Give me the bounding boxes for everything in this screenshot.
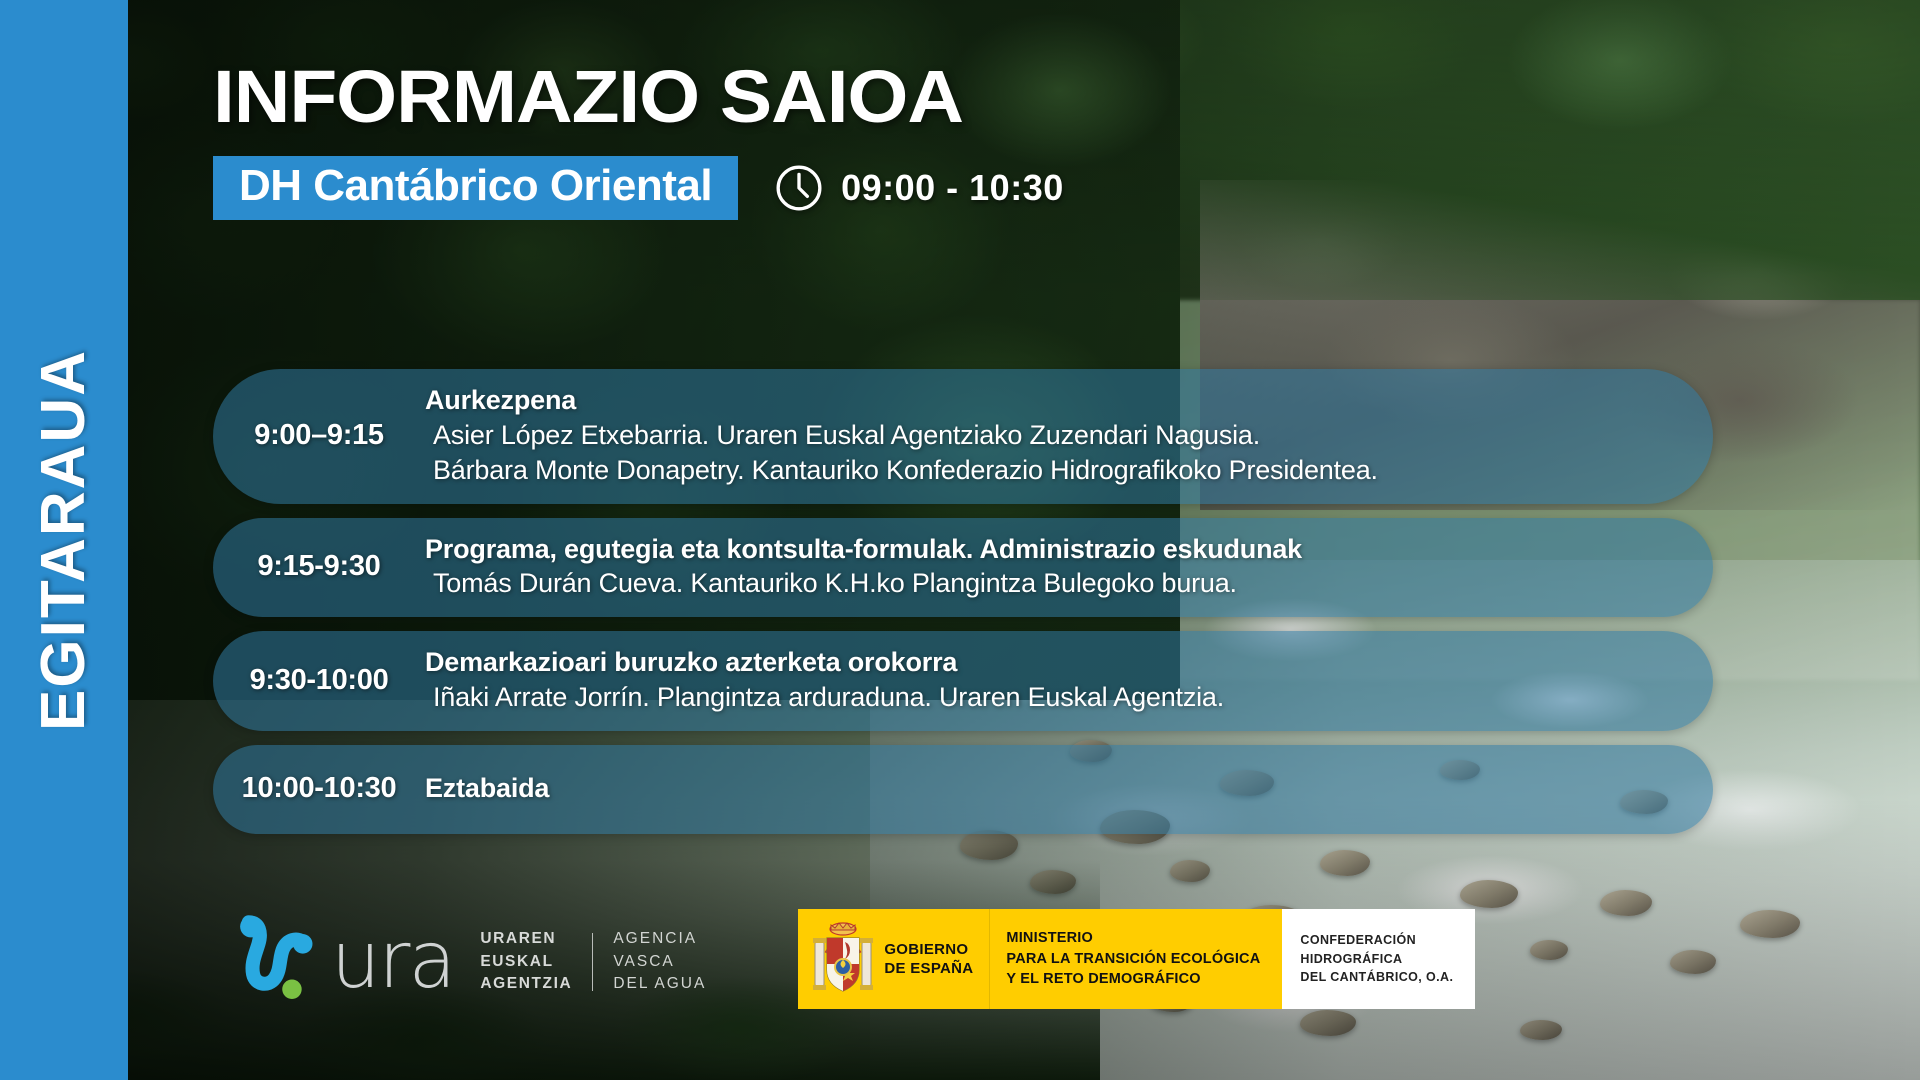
- time-range-label: 09:00 - 10:30: [841, 167, 1064, 209]
- confederacion-hidrografica-logo: CONFEDERACIÓN HIDROGRÁFICA DEL CANTÁBRIC…: [1282, 909, 1475, 1009]
- sidebar-label: EGITARAUA: [33, 349, 95, 731]
- ura-tagline-es-line3: DEL AGUA: [613, 973, 706, 995]
- sidebar-egitaraua: EGITARAUA: [0, 0, 128, 1080]
- footer-logos: ura URAREN EUSKAL AGENTZIA AGENCIA VASCA…: [225, 905, 1475, 1013]
- agenda-row: 9:15-9:30Programa, egutegia eta kontsult…: [213, 518, 1713, 618]
- spain-coat-of-arms-icon: [812, 920, 874, 998]
- ura-tagline-es-line1: AGENCIA: [613, 928, 706, 950]
- chc-line2: HIDROGRÁFICA: [1300, 952, 1402, 966]
- chc-line1: CONFEDERACIÓN: [1300, 933, 1416, 947]
- agenda-row-body: AurkezpenaAsier López Etxebarria. Uraren…: [425, 383, 1673, 488]
- ura-tagline-eu: URAREN EUSKAL AGENTZIA: [480, 928, 572, 995]
- ministerio-line3: Y EL RETO DEMOGRÁFICO: [1006, 971, 1200, 987]
- ministerio-logo: MINISTERIO PARA LA TRANSICIÓN ECOLÓGICA …: [990, 909, 1282, 1009]
- ministerio-line1: MINISTERIO: [1006, 930, 1093, 946]
- header-subrow: DH Cantábrico Oriental 09:00 - 10:30: [213, 156, 1064, 220]
- region-badge: DH Cantábrico Oriental: [213, 156, 738, 220]
- chc-line3: DEL CANTÁBRICO, O.A.: [1300, 970, 1453, 984]
- session-time: 09:00 - 10:30: [774, 163, 1064, 213]
- ura-tagline-es-line2: VASCA: [613, 951, 706, 973]
- agenda-row-time: 9:30-10:00: [213, 664, 425, 697]
- agenda-row-time: 10:00-10:30: [213, 772, 425, 805]
- page-title: INFORMAZIO SAIOA: [213, 62, 1115, 132]
- government-logo-block: GOBIERNO DE ESPAÑA MINISTERIO PARA LA TR…: [798, 909, 1475, 1009]
- slide-canvas: EGITARAUA INFORMAZIO SAIOA DH Cantábrico…: [0, 0, 1920, 1080]
- gobierno-name: GOBIERNO DE ESPAÑA: [884, 940, 973, 979]
- agenda-row-topic: Aurkezpena: [425, 383, 1673, 418]
- agenda-row: 10:00-10:30Eztabaida: [213, 745, 1713, 834]
- agenda-row-body: Programa, egutegia eta kontsulta-formula…: [425, 532, 1673, 602]
- agenda-row-speaker: Bárbara Monte Donapetry. Kantauriko Konf…: [425, 453, 1673, 488]
- agenda-row-topic: Programa, egutegia eta kontsulta-formula…: [425, 532, 1673, 567]
- ura-logo: ura URAREN EUSKAL AGENTZIA AGENCIA VASCA…: [225, 905, 706, 1013]
- agenda-row-topic: Eztabaida: [425, 771, 549, 806]
- ura-wordmark: ura: [331, 922, 454, 1000]
- agenda-row-speaker: Iñaki Arrate Jorrín. Plangintza arduradu…: [425, 680, 1673, 715]
- ura-tagline-eu-line1: URAREN: [480, 928, 572, 950]
- clock-icon: [774, 163, 824, 213]
- agenda-row-topic: Demarkazioari buruzko azterketa orokorra: [425, 645, 1673, 680]
- agenda-row-body: Eztabaida: [425, 771, 1673, 806]
- ura-tagline-eu-line3: AGENTZIA: [480, 973, 572, 995]
- gobierno-name-line2: DE ESPAÑA: [884, 959, 973, 979]
- ura-tagline-divider: [592, 933, 593, 991]
- ura-tagline: URAREN EUSKAL AGENTZIA AGENCIA VASCA DEL…: [480, 928, 706, 995]
- gobierno-name-line1: GOBIERNO: [884, 940, 973, 960]
- agenda-row-time: 9:15-9:30: [213, 550, 425, 583]
- agenda-row-time: 9:00–9:15: [213, 419, 425, 452]
- agenda-row: 9:00–9:15AurkezpenaAsier López Etxebarri…: [213, 369, 1713, 504]
- agenda-row-speaker: Asier López Etxebarria. Uraren Euskal Ag…: [425, 418, 1673, 453]
- ministerio-line2: PARA LA TRANSICIÓN ECOLÓGICA: [1006, 951, 1260, 967]
- gobierno-de-espana-logo: GOBIERNO DE ESPAÑA: [798, 909, 989, 1009]
- ura-tagline-eu-line2: EUSKAL: [480, 951, 572, 973]
- ura-water-swirl-icon: [225, 905, 333, 1013]
- agenda-row: 9:30-10:00Demarkazioari buruzko azterket…: [213, 631, 1713, 731]
- agenda-row-speaker: Tomás Durán Cueva. Kantauriko K.H.ko Pla…: [425, 566, 1673, 601]
- ura-tagline-es: AGENCIA VASCA DEL AGUA: [613, 928, 706, 995]
- header: INFORMAZIO SAIOA DH Cantábrico Oriental …: [213, 62, 1064, 220]
- agenda-row-body: Demarkazioari buruzko azterketa orokorra…: [425, 645, 1673, 715]
- agenda-list: 9:00–9:15AurkezpenaAsier López Etxebarri…: [213, 369, 1713, 848]
